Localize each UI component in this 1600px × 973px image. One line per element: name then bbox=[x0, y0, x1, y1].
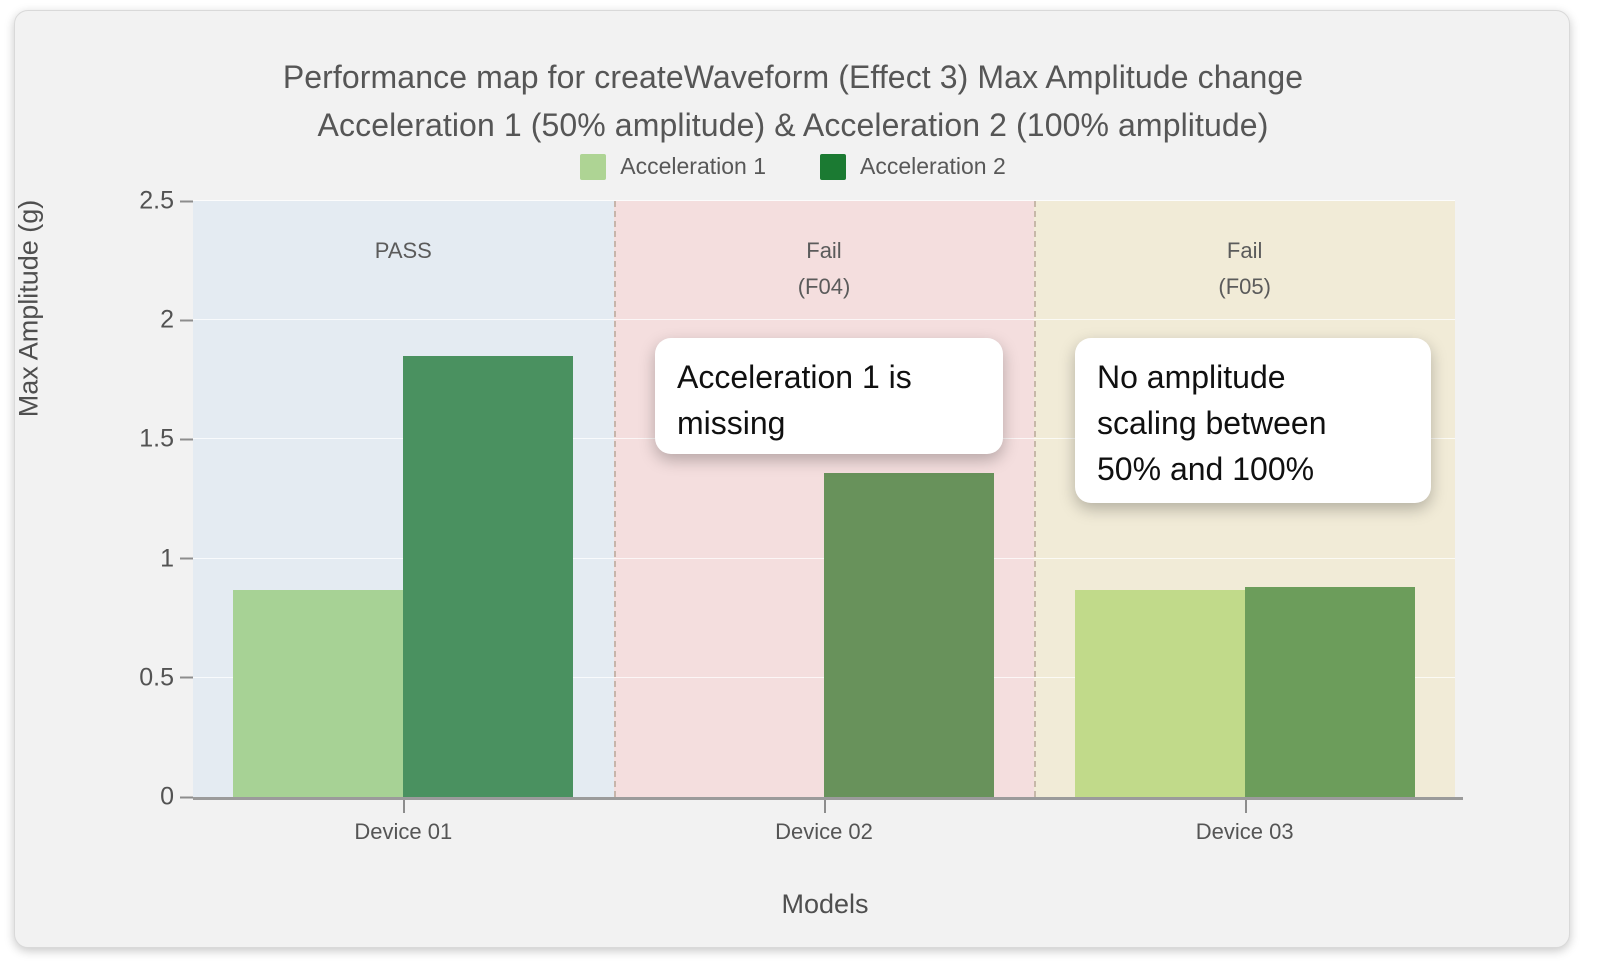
bar[interactable] bbox=[1245, 587, 1415, 797]
y-axis-tick-label: 1 bbox=[160, 544, 174, 573]
y-axis-tick: 2.5 bbox=[139, 187, 193, 216]
y-axis-tick: 2 bbox=[160, 306, 193, 335]
x-axis-tick-mark bbox=[824, 800, 826, 813]
x-axis-title: Models bbox=[15, 889, 1570, 920]
band-divider bbox=[1034, 201, 1036, 797]
gridline bbox=[193, 200, 1455, 201]
bar[interactable] bbox=[1075, 590, 1245, 797]
x-axis-tick-label: Device 03 bbox=[1196, 819, 1294, 845]
legend-entry-acceleration-2[interactable]: Acceleration 2 bbox=[820, 153, 1006, 180]
y-axis-tick-mark bbox=[180, 438, 193, 440]
band-divider bbox=[614, 201, 616, 797]
annotation-callout: Acceleration 1 is missing bbox=[655, 338, 1003, 454]
annotation-callout: No amplitude scaling between 50% and 100… bbox=[1075, 338, 1431, 503]
status-band-label: Fail (F05) bbox=[1034, 233, 1455, 305]
status-band-label: PASS bbox=[193, 233, 614, 269]
y-axis-tick-label: 0 bbox=[160, 783, 174, 812]
status-band-label: Fail (F04) bbox=[614, 233, 1035, 305]
y-axis-tick-label: 1.5 bbox=[139, 425, 174, 454]
legend-entry-acceleration-1[interactable]: Acceleration 1 bbox=[580, 153, 766, 180]
y-axis-tick: 0 bbox=[160, 783, 193, 812]
figure-card: Performance map for createWaveform (Effe… bbox=[14, 10, 1570, 948]
bar[interactable] bbox=[233, 590, 403, 797]
y-axis-tick: 1 bbox=[160, 544, 193, 573]
y-axis-tick-label: 2 bbox=[160, 306, 174, 335]
bar[interactable] bbox=[403, 356, 573, 797]
y-axis-tick-mark bbox=[180, 558, 193, 560]
y-axis-tick-mark bbox=[180, 200, 193, 202]
legend-label: Acceleration 2 bbox=[860, 153, 1006, 180]
x-axis-tick-label: Device 01 bbox=[354, 819, 452, 845]
y-axis-tick-mark bbox=[180, 796, 193, 798]
y-axis-tick: 0.5 bbox=[139, 663, 193, 692]
x-axis-tick-mark bbox=[1245, 800, 1247, 813]
gridline bbox=[193, 319, 1455, 320]
y-axis-tick-mark bbox=[180, 677, 193, 679]
legend-swatch-icon bbox=[580, 154, 606, 180]
y-axis-tick-label: 2.5 bbox=[139, 187, 174, 216]
y-axis-tick-label: 0.5 bbox=[139, 663, 174, 692]
y-axis-tick: 1.5 bbox=[139, 425, 193, 454]
legend-label: Acceleration 1 bbox=[620, 153, 766, 180]
y-axis-tick-mark bbox=[180, 319, 193, 321]
chart-legend: Acceleration 1 Acceleration 2 bbox=[15, 153, 1570, 180]
x-axis-line bbox=[193, 797, 1463, 800]
bar[interactable] bbox=[824, 473, 994, 797]
legend-swatch-icon bbox=[820, 154, 846, 180]
x-axis-tick-mark bbox=[403, 800, 405, 813]
y-axis-title: Max Amplitude (g) bbox=[14, 99, 45, 519]
chart-title: Performance map for createWaveform (Effe… bbox=[15, 53, 1570, 149]
x-axis-tick-label: Device 02 bbox=[775, 819, 873, 845]
